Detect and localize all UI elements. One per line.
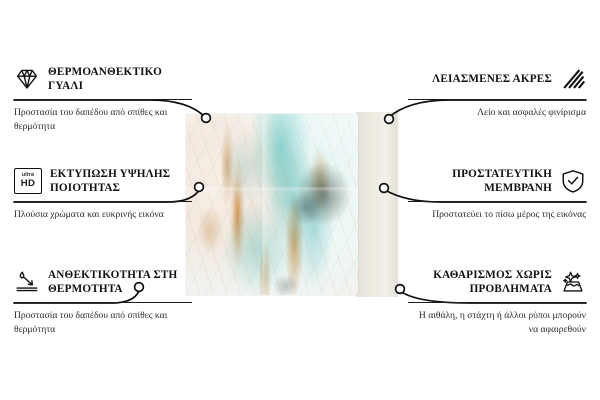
easy-cleaning-icon (560, 269, 586, 295)
artwork-vein-layer (186, 114, 358, 295)
feature-header: ΘΕΡΜΟΑΝΘΕΚΤΙΚΟ ΓΥΑΛΙ (14, 64, 192, 94)
polished-edges-icon (560, 66, 586, 92)
feature-title: ΠΡΟΣΤΑΤΕΥΤΙΚΗ ΜΕΜΒΡΑΝΗ (408, 167, 552, 196)
feature-header: ΠΡΟΣΤΑΤΕΥΤΙΚΗ ΜΕΜΒΡΑΝΗ (408, 166, 586, 196)
panel-side-edge (356, 112, 398, 297)
feature-heat-resistant-glass: ΘΕΡΜΟΑΝΘΕΚΤΙΚΟ ΓΥΑΛΙ Προστασία του δαπέδ… (14, 64, 192, 134)
feature-header: ultra HD ΕΚΤΥΠΩΣΗ ΥΨΗΛΗΣ ΠΟΙΟΤΗΤΑΣ (14, 166, 192, 196)
feature-header: ΑΝΘΕΚΤΙΚΟΤΗΤΑ ΣΤΗ ΘΕΡΜΟΤΗΤΑ (14, 267, 192, 297)
feature-divider (14, 201, 192, 202)
feature-header: ΚΑΘΑΡΙΣΜΟΣ ΧΩΡΙΣ ΠΡΟΒΛΗΜΑΤΑ (408, 267, 586, 297)
feature-polished-edges: ΛΕΙΑΣΜΕΝΕΣ ΑΚΡΕΣ Λείο και ασφαλές φινίρι… (408, 64, 586, 120)
feature-divider (14, 99, 192, 100)
shield-check-icon (560, 168, 586, 194)
feature-description: Προστασία του δαπέδου από σπίθες και θερ… (14, 106, 192, 134)
feature-divider (408, 302, 586, 303)
infographic-canvas: ΘΕΡΜΟΑΝΘΕΚΤΙΚΟ ΓΥΑΛΙ Προστασία του δαπέδ… (0, 0, 600, 400)
product-image (186, 112, 398, 297)
feature-description: Πλούσια χρώματα και ευκρινής εικόνα (14, 208, 192, 222)
feature-description: Προστατεύει το πίσω μέρος της εικόνας (408, 208, 586, 222)
feature-title: ΚΑΘΑΡΙΣΜΟΣ ΧΩΡΙΣ ΠΡΟΒΛΗΜΑΤΑ (408, 268, 552, 297)
feature-title: ΑΝΘΕΚΤΙΚΟΤΗΤΑ ΣΤΗ ΘΕΡΜΟΤΗΤΑ (48, 268, 192, 297)
feature-header: ΛΕΙΑΣΜΕΝΕΣ ΑΚΡΕΣ (408, 64, 586, 94)
feature-description: Προστασία του δαπέδου από σπίθες και θερ… (14, 309, 192, 337)
feature-easy-cleaning: ΚΑΘΑΡΙΣΜΟΣ ΧΩΡΙΣ ΠΡΟΒΛΗΜΑΤΑ Η αιθάλη, η … (408, 267, 586, 337)
feature-divider (408, 201, 586, 202)
feature-title: ΘΕΡΜΟΑΝΘΕΚΤΙΚΟ ΓΥΑΛΙ (48, 65, 192, 94)
feature-high-quality-print: ultra HD ΕΚΤΥΠΩΣΗ ΥΨΗΛΗΣ ΠΟΙΟΤΗΤΑΣ Πλούσ… (14, 166, 192, 222)
feature-description: Η αιθάλη, η στάχτη ή άλλοι ρύποι μπορούν… (408, 309, 586, 337)
ultra-hd-icon-bottom: HD (21, 179, 35, 189)
feature-title: ΕΚΤΥΠΩΣΗ ΥΨΗΛΗΣ ΠΟΙΟΤΗΤΑΣ (50, 167, 192, 196)
feature-description: Λείο και ασφαλές φινίρισμα (408, 106, 586, 120)
feature-title: ΛΕΙΑΣΜΕΝΕΣ ΑΚΡΕΣ (432, 72, 552, 86)
diamond-icon (14, 66, 40, 92)
ultra-hd-icon: ultra HD (14, 168, 42, 194)
feature-heat-durability: ΑΝΘΕΚΤΙΚΟΤΗΤΑ ΣΤΗ ΘΕΡΜΟΤΗΤΑ Προστασία το… (14, 267, 192, 337)
panel-front-face (186, 114, 358, 295)
feature-divider (408, 99, 586, 100)
feature-protective-membrane: ΠΡΟΣΤΑΤΕΥΤΙΚΗ ΜΕΜΒΡΑΝΗ Προστατεύει το πί… (408, 166, 586, 222)
heat-resistance-icon (14, 269, 40, 295)
feature-divider (14, 302, 192, 303)
